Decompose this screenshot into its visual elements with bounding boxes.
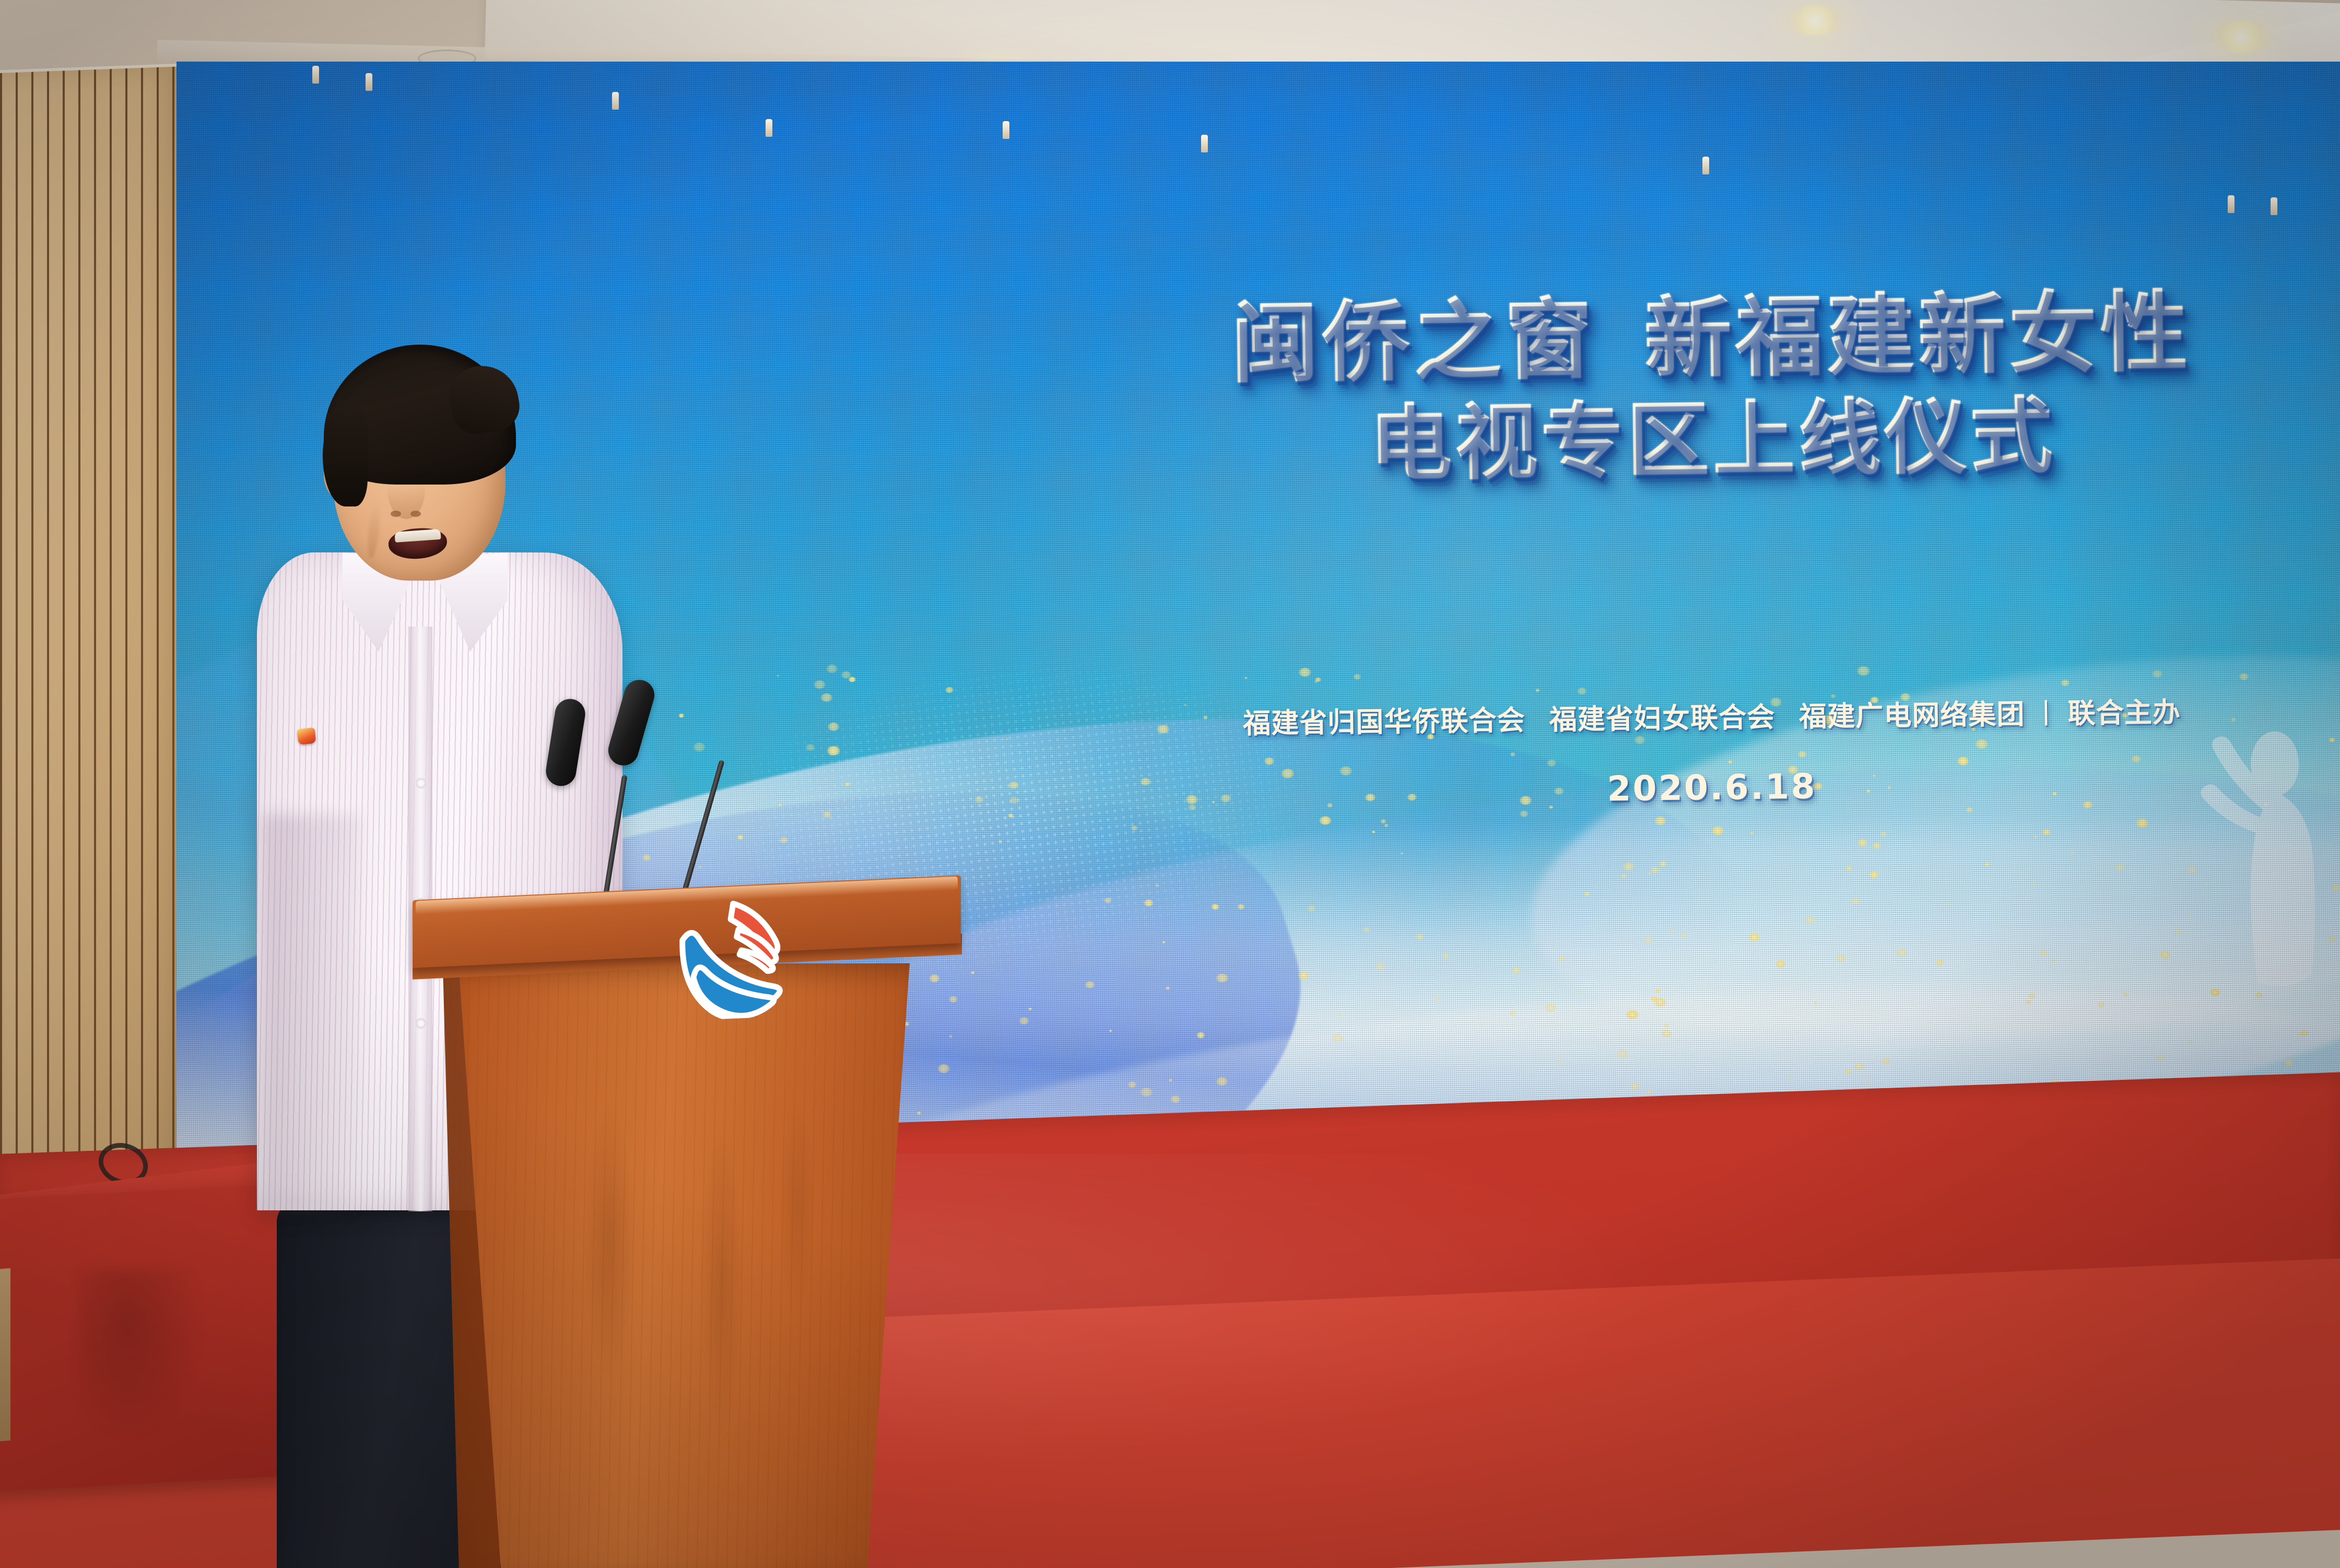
sparkle-particle	[1442, 953, 1450, 958]
sparkle-particle	[1384, 824, 1388, 827]
sparkle-particle	[1623, 862, 1635, 870]
sparkle-particle	[1972, 728, 1976, 731]
sparkle-particle	[1085, 981, 1095, 988]
sparkle-particle	[1887, 786, 1891, 789]
sparkle-particle	[974, 796, 983, 803]
sparkle-particle	[693, 742, 705, 751]
sparkle-particle	[1327, 804, 1333, 807]
sparkle-particle	[1299, 972, 1310, 980]
sparkle-particle	[971, 972, 974, 974]
sparkle-particle	[949, 1035, 953, 1038]
sparkle-particle	[1770, 698, 1782, 706]
sparkle-particle	[806, 744, 815, 751]
sparkle-particle	[2157, 1054, 2166, 1060]
screen-mount-peg	[312, 66, 319, 84]
sparkle-particle	[1319, 816, 1331, 825]
sparkle-particle	[1626, 1010, 1639, 1020]
shirt-button	[416, 778, 426, 788]
sparkle-particle	[1578, 991, 1580, 993]
sparkle-particle	[2152, 670, 2162, 678]
sparkle-particle	[1368, 1074, 1371, 1076]
sparkle-particle	[2136, 819, 2148, 828]
ceiling-downlight-1	[1786, 5, 1844, 36]
sparkle-particle	[1750, 832, 1754, 834]
sparkle-particle	[1140, 1087, 1153, 1096]
sparkle-particle	[2026, 1000, 2032, 1004]
event-stage-photo: 闽侨之窗新福建新女性 电视专区上线仪式 福建省归国华侨联合会福建省妇女联合会福建…	[0, 0, 2340, 1568]
sparkle-particle	[699, 866, 702, 868]
sparkle-particle	[1186, 795, 1198, 804]
sparkle-particle	[1374, 962, 1386, 971]
sparkle-particle	[1946, 903, 1949, 905]
sparkle-particle	[2189, 1041, 2192, 1043]
sparkle-particle	[1238, 904, 1245, 909]
sparkle-particle	[1831, 694, 1836, 698]
sail-bird-emblem-icon	[660, 885, 822, 1022]
sparkle-particle	[1281, 769, 1294, 779]
sparkle-particle	[1314, 681, 1318, 683]
screen-mount-peg	[2228, 195, 2235, 213]
sparkle-particle	[1577, 688, 1586, 694]
sparkle-particle	[2097, 1002, 2105, 1008]
sparkle-particle	[2123, 992, 2129, 996]
sparkle-particle	[1155, 884, 1159, 887]
sparkle-particle	[1547, 760, 1556, 767]
sparkle-particle	[1711, 827, 1724, 835]
speaker-nostril-right	[410, 511, 421, 517]
screen-mount-peg	[766, 119, 772, 137]
sparkle-particle	[777, 675, 780, 677]
sparkle-particle	[1728, 760, 1732, 763]
sparkle-particle	[1857, 666, 1870, 676]
sparkle-particle	[2040, 950, 2048, 956]
lapel-pin-badge	[297, 727, 316, 745]
sparkle-particle	[1339, 767, 1352, 776]
sparkle-particle	[1788, 765, 1798, 773]
sparkle-particle	[1365, 794, 1375, 801]
sparkle-particle	[1144, 900, 1154, 906]
sparkle-particle	[2122, 713, 2128, 718]
sparkle-particle	[1882, 1058, 1890, 1064]
sparkle-particle	[1870, 697, 1879, 703]
screen-mount-peg	[612, 92, 619, 110]
sparkle-particle	[1850, 898, 1860, 905]
sparkle-particle	[1307, 905, 1315, 912]
speaker-hair-sideburn	[323, 407, 368, 506]
sparkle-particle	[1171, 1096, 1181, 1103]
sparkle-particle	[1554, 787, 1564, 795]
sparkle-particle	[1634, 736, 1645, 744]
sparkle-particle	[814, 680, 826, 689]
screen-mount-peg	[1702, 157, 1709, 174]
sparkle-particle	[1873, 775, 1876, 777]
screen-mount-peg	[1201, 135, 1208, 152]
sparkle-particle	[1509, 1011, 1516, 1016]
sparkle-particle	[1805, 916, 1816, 924]
sparkle-particle	[2034, 835, 2037, 838]
sparkle-particle	[2083, 801, 2092, 808]
sparkle-particle	[1157, 725, 1169, 734]
sparkle-particle	[1976, 739, 1989, 749]
sparkle-particle	[2061, 680, 2070, 686]
sparkle-particle	[679, 714, 684, 717]
sparkle-particle	[844, 782, 850, 786]
sparkle-particle	[1549, 806, 1553, 809]
sparkle-particle	[1166, 986, 1170, 989]
sparkle-particle	[778, 804, 782, 806]
sparkle-particle	[1009, 782, 1018, 788]
sparkle-particle	[1520, 811, 1528, 817]
sparkle-particle	[1984, 863, 1989, 866]
sparkle-particle	[1966, 807, 1973, 812]
sparkle-particle	[2070, 851, 2074, 854]
sparkle-particle	[1338, 1013, 1341, 1016]
sparkle-particle	[1332, 1034, 1344, 1042]
wood-slat-acoustic-wall	[0, 66, 182, 1243]
sparkle-particle	[1264, 758, 1275, 765]
sparkle-particle	[1557, 1060, 1561, 1063]
sparkle-particle	[949, 996, 958, 1003]
sparkle-particle	[1353, 674, 1361, 680]
sparkle-particle	[1128, 1082, 1136, 1088]
sparkle-particle	[929, 974, 940, 982]
sparkle-particle	[1197, 1032, 1205, 1038]
screen-mount-peg	[1003, 121, 1009, 139]
sparkle-particle	[937, 1064, 950, 1073]
sparkle-particle	[737, 835, 744, 840]
sparkle-particle	[1216, 974, 1228, 983]
sparkle-particle	[1957, 757, 1969, 765]
sparkle-particle	[1789, 1076, 1793, 1079]
sparkle-particle	[642, 855, 651, 861]
sparkle-particle	[827, 746, 840, 756]
sparkle-particle	[1009, 797, 1019, 804]
sparkle-particle	[1220, 795, 1231, 803]
sparkle-particle	[1664, 1024, 1668, 1028]
sparkle-particle	[1775, 960, 1786, 968]
screen-mount-peg	[366, 73, 372, 91]
sparkle-particle	[1559, 957, 1565, 961]
dancing-figure-silhouette	[2162, 713, 2340, 1008]
sparkle-particle	[917, 1111, 921, 1114]
sparkle-particle	[1647, 1090, 1652, 1094]
sparkle-particle	[1814, 1001, 1817, 1004]
sparkle-particle	[1244, 677, 1247, 679]
sparkle-particle	[1203, 716, 1208, 720]
sparkle-particle	[2052, 959, 2056, 962]
sparkle-particle	[828, 723, 839, 731]
sparkle-particle	[1520, 796, 1532, 805]
sparkle-particle	[1008, 814, 1014, 818]
sparkle-particle	[1661, 1030, 1672, 1038]
sparkle-particle	[1212, 904, 1219, 910]
sparkle-particle	[821, 693, 833, 702]
screen-mount-peg	[2271, 197, 2277, 215]
sparkle-particle	[1005, 738, 1008, 740]
sparkle-particle	[1659, 861, 1667, 867]
sparkle-particle	[1511, 966, 1521, 974]
sparkle-particle	[1616, 1050, 1629, 1058]
sparkle-particle	[1407, 794, 1417, 800]
sparkle-particle	[822, 811, 831, 818]
sparkle-particle	[1648, 872, 1652, 875]
sparkle-particle	[1104, 898, 1112, 903]
sparkle-particle	[1844, 1069, 1851, 1074]
sparkle-particle	[1936, 960, 1944, 965]
sparkle-particle	[1380, 819, 1386, 823]
sparkle-particle	[998, 840, 1002, 843]
drape-fold-shadow	[78, 1269, 204, 1441]
sparkle-particle	[780, 837, 789, 843]
sparkle-particle	[1798, 751, 1807, 757]
sparkle-particle	[1545, 1004, 1556, 1012]
sparkle-particle	[1415, 934, 1424, 940]
sparkle-particle	[1824, 715, 1837, 725]
sparkle-particle	[2032, 883, 2037, 887]
sparkle-particle	[1584, 892, 1590, 896]
sparkle-particle	[1813, 783, 1822, 789]
sparkle-particle	[1858, 839, 1868, 846]
sparkle-particle	[1869, 871, 1879, 878]
speaker-arm-shading	[262, 815, 361, 1211]
sparkle-particle	[2042, 829, 2051, 835]
sparkle-particle	[1853, 1063, 1864, 1070]
sparkle-particle	[1650, 866, 1661, 874]
sparkle-particle	[1216, 1077, 1228, 1086]
sparkle-particle	[1866, 789, 1871, 793]
sparkle-particle	[1421, 726, 1424, 728]
sparkle-particle	[1183, 704, 1186, 706]
sparkle-particle	[1643, 936, 1653, 943]
wood-edge-strip	[0, 1268, 10, 1442]
sparkle-particle	[946, 687, 954, 693]
sparkle-particle	[1836, 955, 1845, 962]
sparkle-particle	[1866, 1082, 1871, 1085]
sparkle-particle	[848, 677, 856, 682]
sparkle-particle	[2052, 792, 2057, 795]
sparkle-particle	[1028, 1008, 1032, 1010]
sparkle-particle	[826, 665, 838, 673]
sparkle-particle	[2131, 756, 2141, 763]
sparkle-particle	[1427, 734, 1434, 739]
sparkle-particle	[1140, 777, 1151, 785]
sparkle-particle	[1363, 927, 1370, 932]
sparkle-particle	[1872, 842, 1881, 849]
sparkle-particle	[1630, 1083, 1640, 1090]
sparkle-particle	[1188, 804, 1196, 810]
sparkle-particle	[1680, 933, 1687, 937]
sparkle-particle	[1621, 874, 1627, 878]
sparkle-particle	[1162, 941, 1165, 944]
sparkle-particle	[1535, 689, 1539, 692]
podium-front-panel	[449, 963, 919, 1568]
sparkle-particle	[2114, 863, 2125, 871]
sparkle-particle	[2284, 1059, 2294, 1066]
sparkle-particle	[1131, 826, 1138, 830]
sparkle-particle	[1401, 852, 1404, 855]
sparkle-particle	[1299, 667, 1311, 677]
sparkle-particle	[1900, 693, 1910, 701]
shirt-button	[416, 1018, 426, 1029]
speaker-nostril-left	[391, 511, 401, 517]
sparkle-particle	[1435, 996, 1440, 1000]
sparkle-particle	[1169, 1079, 1172, 1081]
sparkle-particle	[1896, 949, 1908, 957]
sparkle-particle	[1655, 989, 1661, 993]
ceiling-downlight-2	[2210, 21, 2273, 53]
sparkle-particle	[1019, 1017, 1029, 1024]
sparkle-particle	[1748, 933, 1760, 941]
sparkle-particle	[2239, 673, 2249, 680]
sparkle-particle	[1671, 930, 1674, 933]
sparkle-particle	[2028, 994, 2036, 999]
sparkle-particle	[1372, 831, 1375, 833]
sparkle-particle	[1401, 1015, 1404, 1018]
sparkle-particle	[1510, 752, 1515, 757]
sparkle-particle	[1109, 1030, 1113, 1032]
sparkle-particle	[1845, 866, 1852, 871]
sparkle-particle	[1654, 817, 1666, 825]
sparkle-particle	[1212, 801, 1215, 803]
sparkle-particle	[1879, 831, 1887, 837]
